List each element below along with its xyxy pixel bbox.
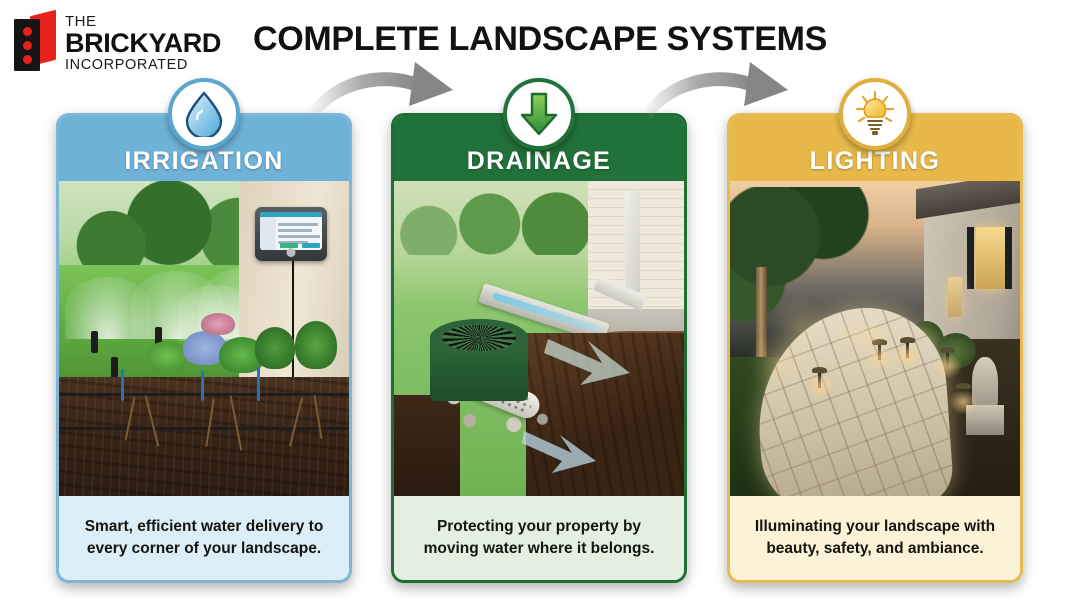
water-flow-arrow-outlet (522, 427, 600, 484)
card-photo-irrigation (59, 181, 349, 499)
card-caption-lighting: Illuminating your landscape with beauty,… (730, 496, 1020, 580)
card-title-irrigation: IRRIGATION (59, 147, 349, 176)
path-light-1 (818, 371, 821, 388)
water-flow-arrow-surface (544, 333, 636, 396)
water-drop-icon (168, 78, 240, 150)
card-lighting[interactable]: LIGHTING (727, 113, 1023, 583)
card-photo-drainage (394, 181, 684, 499)
card-irrigation[interactable]: IRRIGATION (56, 113, 352, 583)
card-title-lighting: LIGHTING (730, 147, 1020, 176)
logo-line-incorporated: INCORPORATED (65, 58, 221, 73)
card-caption-irrigation: Smart, efficient water delivery to every… (59, 496, 349, 580)
down-arrow-icon (503, 78, 575, 150)
light-bulb-icon (839, 78, 911, 150)
card-drainage[interactable]: DRAINAGE (391, 113, 687, 583)
card-caption-drainage: Protecting your property by moving water… (394, 496, 684, 580)
arrow-irrigation-to-drainage (303, 56, 478, 133)
path-light-3 (906, 341, 909, 358)
infographic-canvas: THE BRICKYARD INCORPORATED COMPLETE LAND… (0, 0, 1080, 603)
arrow-drainage-to-lighting (638, 56, 813, 133)
irrigation-controller (255, 207, 327, 261)
card-photo-lighting (730, 181, 1020, 499)
card-title-drainage: DRAINAGE (394, 147, 684, 176)
catch-basin-grate (430, 319, 528, 357)
page-title: COMPLETE LANDSCAPE SYSTEMS (0, 20, 1080, 59)
path-light-5 (962, 387, 965, 404)
path-light-4 (946, 351, 949, 368)
